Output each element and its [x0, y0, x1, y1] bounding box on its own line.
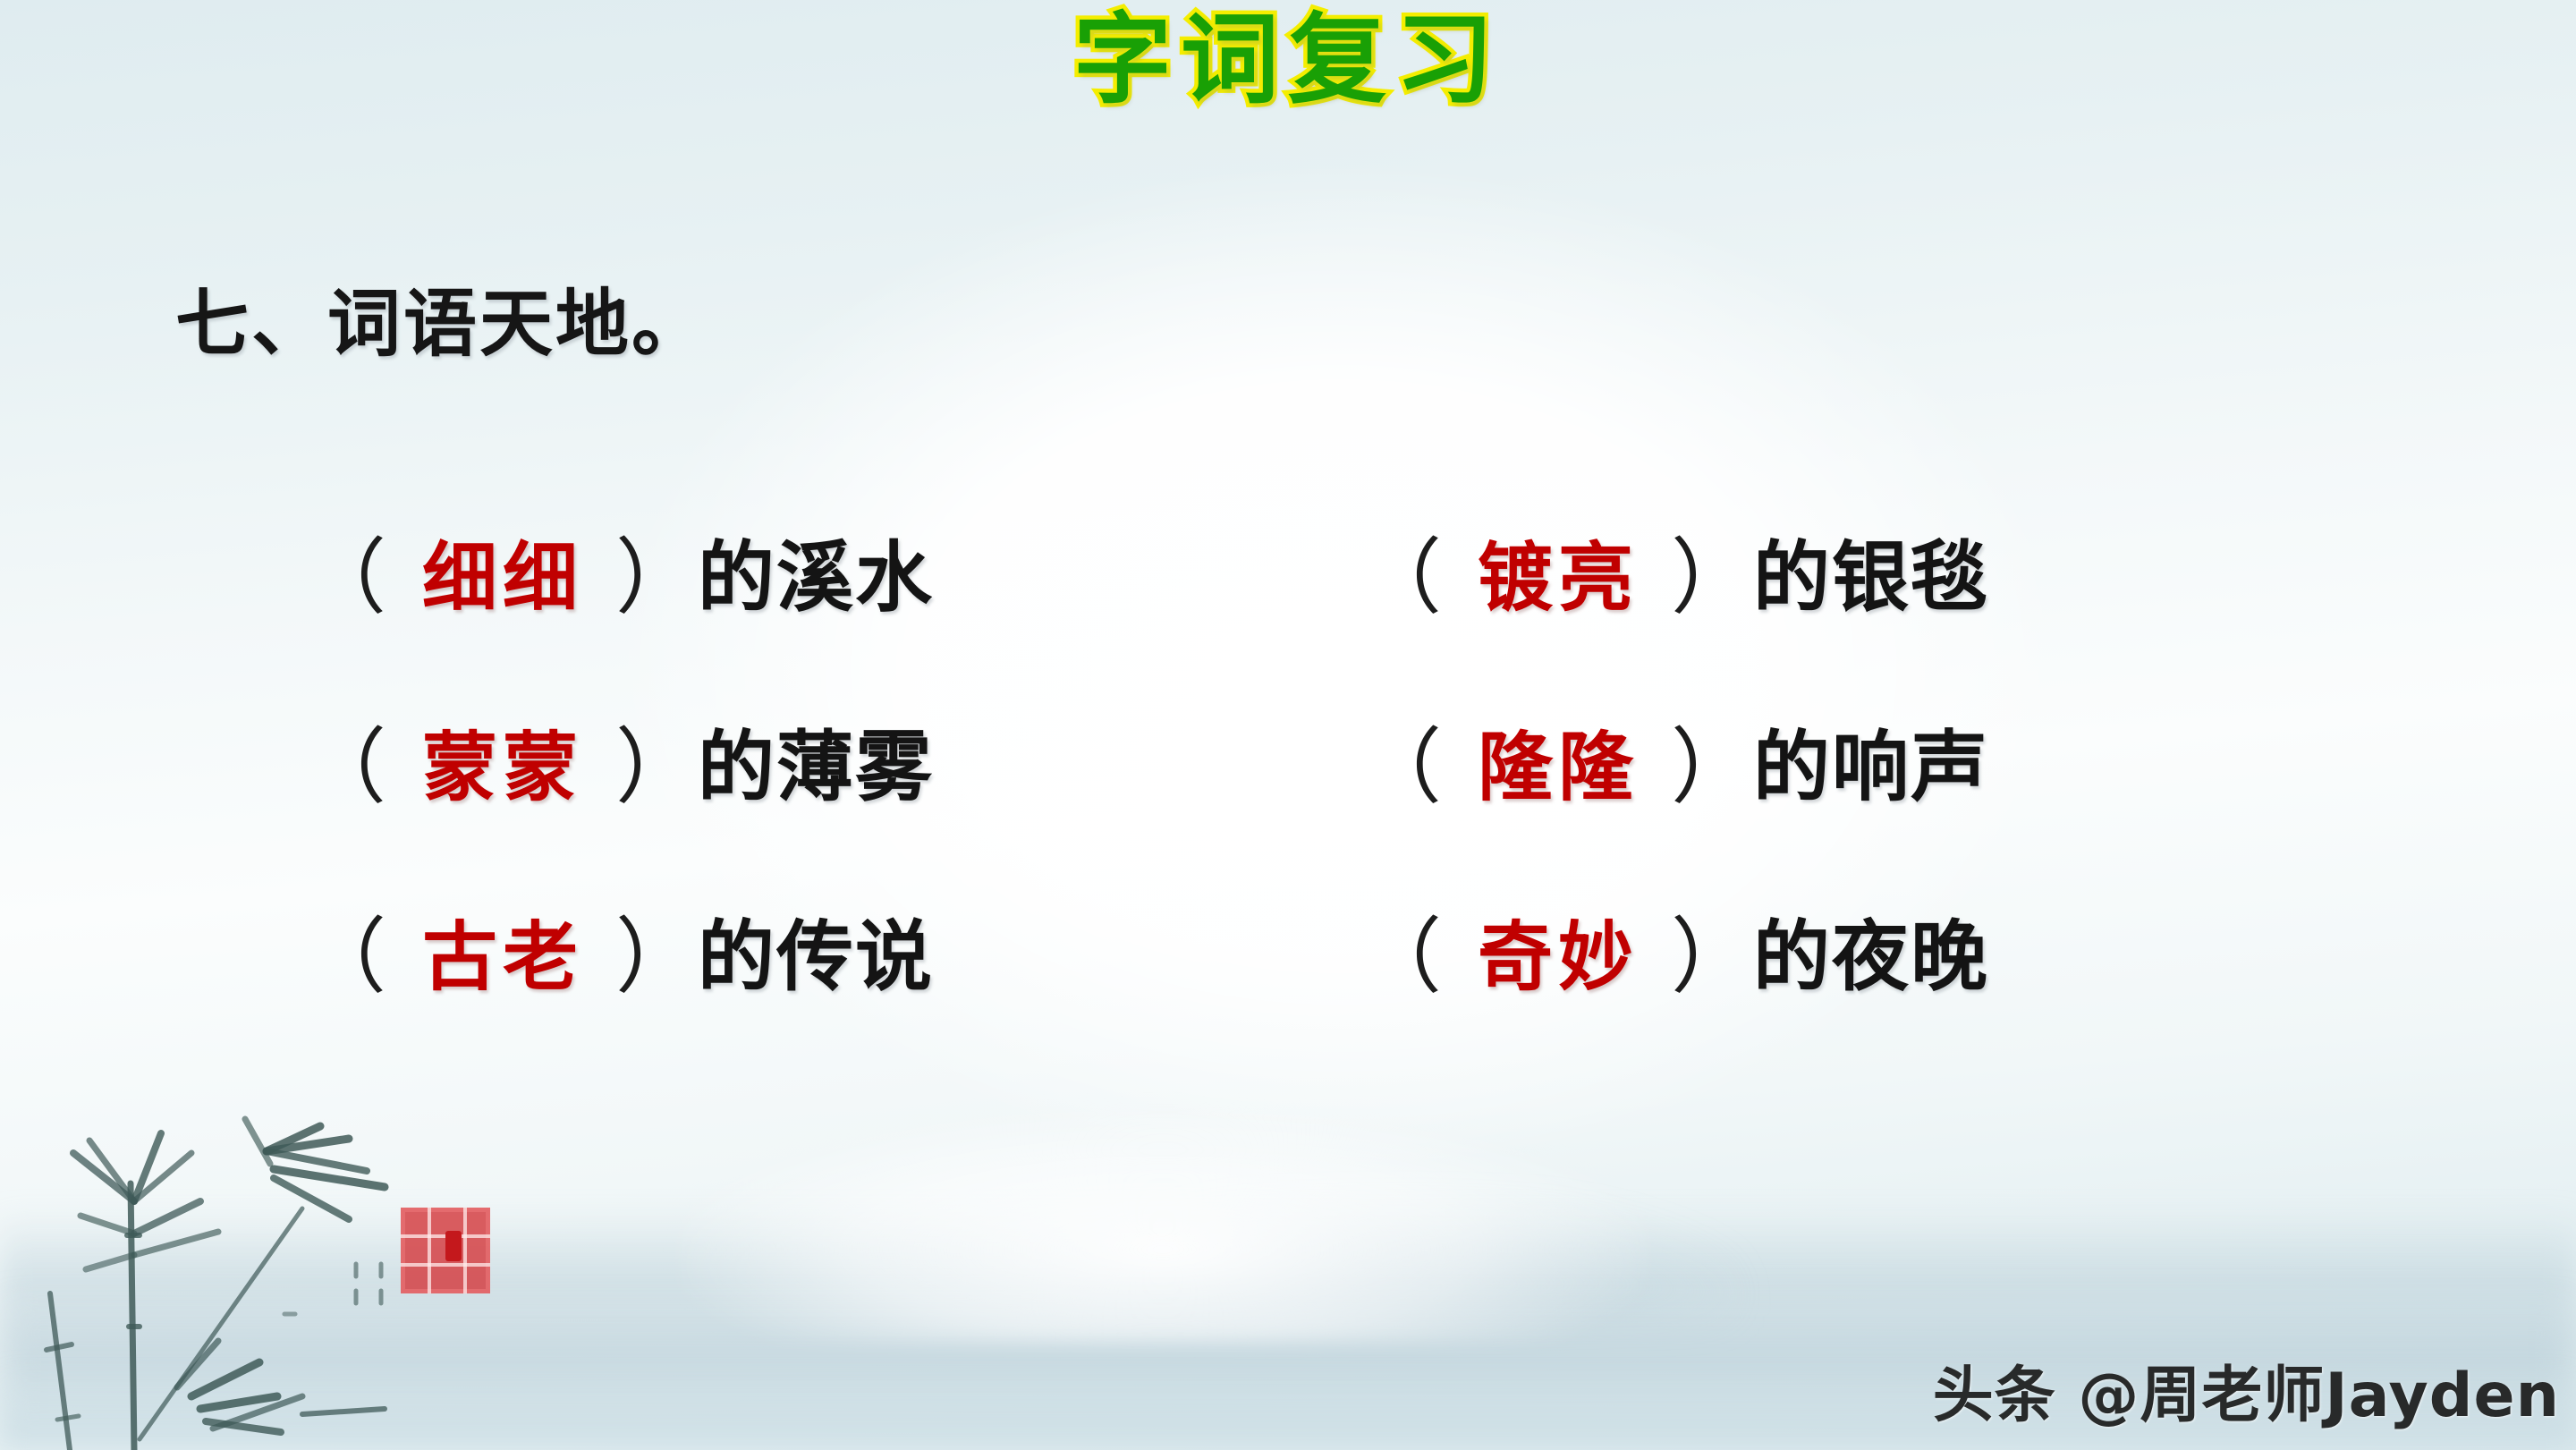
- phrase-text: 的传说: [698, 919, 934, 996]
- open-paren: （: [304, 916, 386, 998]
- bamboo-ink-painting-icon: [34, 1101, 535, 1450]
- answer-blank[interactable]: 蒙蒙: [390, 730, 615, 805]
- exercise-row: （ 奇妙 ） 的夜晚: [1360, 862, 2326, 1052]
- mist-peak: [1055, 1208, 1735, 1316]
- answer-blank[interactable]: 隆隆: [1445, 730, 1671, 805]
- open-paren: （: [304, 726, 386, 809]
- close-paren: ）: [615, 916, 698, 998]
- watermark: 头条 @周老师Jayden: [1933, 1366, 2560, 1427]
- open-paren: （: [1360, 537, 1442, 619]
- answer-blank[interactable]: 奇妙: [1445, 920, 1671, 995]
- close-paren: ）: [1671, 916, 1753, 998]
- exercise-row: （ 蒙蒙 ） 的薄雾: [304, 673, 1270, 862]
- phrase-text: 的银毯: [1753, 539, 1989, 616]
- center-glow: [680, 1110, 1646, 1343]
- open-paren: （: [1360, 916, 1442, 998]
- red-seal-stamp-icon: [401, 1208, 490, 1293]
- exercise-row: （ 镀亮 ） 的银毯: [1360, 483, 2326, 673]
- phrase-text: 的溪水: [698, 539, 934, 616]
- open-paren: （: [304, 537, 386, 619]
- answer-blank[interactable]: 细细: [390, 540, 615, 615]
- phrase-text: 的响声: [1753, 729, 1989, 806]
- close-paren: ）: [1671, 726, 1753, 809]
- phrase-text: 的夜晚: [1753, 919, 1989, 996]
- exercise-row: （ 细细 ） 的溪水: [304, 483, 1270, 673]
- phrase-text: 的薄雾: [698, 729, 934, 806]
- exercise-row: （ 隆隆 ） 的响声: [1360, 673, 2326, 862]
- answer-blank[interactable]: 镀亮: [1445, 540, 1671, 615]
- section-heading: 七、词语天地。: [175, 288, 708, 361]
- close-paren: ）: [1671, 537, 1753, 619]
- slide-canvas: 字词复习 七、词语天地。 （ 细细 ） 的溪水 （ 镀亮 ） 的银毯 （ 蒙蒙 …: [0, 0, 2576, 1450]
- close-paren: ）: [615, 537, 698, 619]
- exercise-row: （ 古老 ） 的传说: [304, 862, 1270, 1052]
- answer-blank[interactable]: 古老: [390, 920, 615, 995]
- page-title: 字词复习: [1073, 5, 1503, 115]
- mist-band-upper: [0, 1210, 2576, 1344]
- open-paren: （: [1360, 726, 1442, 809]
- exercise-grid: （ 细细 ） 的溪水 （ 镀亮 ） 的银毯 （ 蒙蒙 ） 的薄雾 （ 隆隆 ） …: [304, 483, 2326, 1052]
- close-paren: ）: [615, 726, 698, 809]
- title-block: 字词复习: [0, 5, 2576, 115]
